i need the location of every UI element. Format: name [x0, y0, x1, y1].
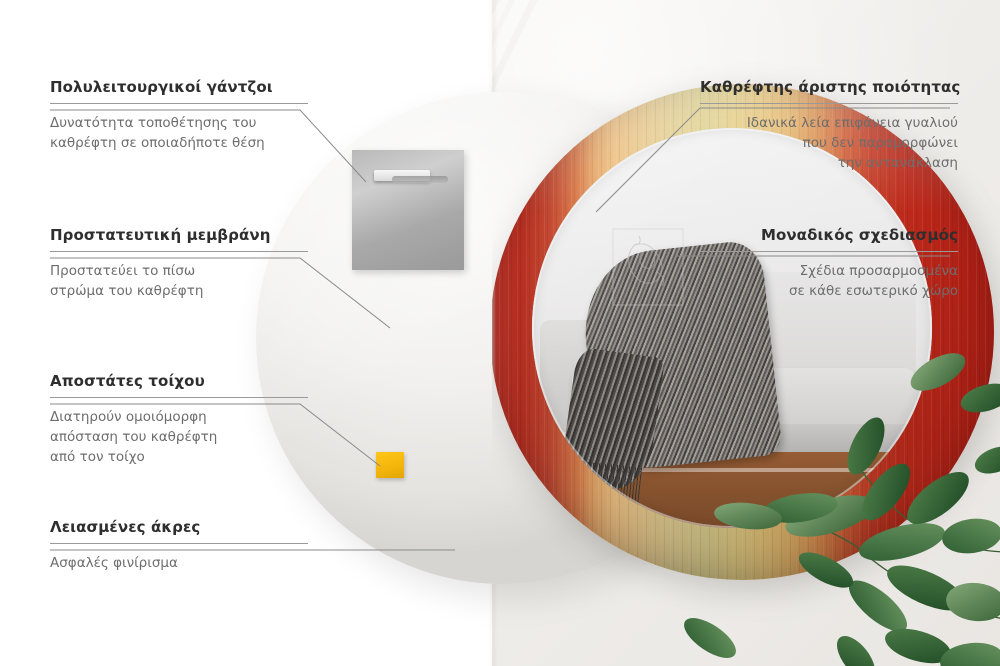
callout-title: Καθρέφτης άριστης ποιότητας: [700, 78, 958, 96]
hanging-bracket: [352, 150, 464, 270]
callout-title: Λειασμένες άκρες: [50, 518, 308, 536]
bracket-slot-shadow: [392, 176, 448, 183]
callout-title: Αποστάτες τοίχου: [50, 372, 308, 390]
infographic-canvas: Πολυλειτουργικοί γάντζοι Δυνατότητα τοπο…: [0, 0, 1000, 666]
callout-title: Μοναδικός σχεδιασμός: [700, 226, 958, 244]
callout-rule: [50, 251, 308, 252]
callout-description: Δυνατότητα τοποθέτησης του καθρέφτη σε ο…: [50, 113, 308, 153]
callout-description: Ασφαλές φινίρισμα: [50, 553, 308, 573]
callout-rule: [50, 397, 308, 398]
callout-wall-spacers: Αποστάτες τοίχου Διατηρούν ομοιόμορφη απ…: [50, 372, 308, 467]
callout-title: Πολυλειτουργικοί γάντζοι: [50, 78, 308, 96]
callout-multifunctional-hooks: Πολυλειτουργικοί γάντζοι Δυνατότητα τοπο…: [50, 78, 308, 153]
callout-rule: [700, 251, 958, 252]
callout-description: Διατηρούν ομοιόμορφη απόσταση του καθρέφ…: [50, 407, 308, 467]
callout-protective-membrane: Προστατευτική μεμβράνη Προστατεύει το πί…: [50, 226, 308, 301]
watermark-sketch-icon: [612, 228, 684, 306]
foliage-decoration: [680, 320, 1000, 666]
callout-smoothed-edges: Λειασμένες άκρες Ασφαλές φινίρισμα: [50, 518, 308, 573]
callout-rule: [50, 543, 308, 544]
callout-rule: [50, 103, 308, 104]
callout-title: Προστατευτική μεμβράνη: [50, 226, 308, 244]
callout-description: Ιδανικά λεία επιφάνεια γυαλιού που δεν π…: [700, 113, 958, 173]
callout-top-quality-mirror: Καθρέφτης άριστης ποιότητας Ιδανικά λεία…: [700, 78, 958, 173]
callout-description: Σχέδια προσαρμοσμένα σε κάθε εσωτερικό χ…: [700, 261, 958, 301]
callout-rule: [700, 103, 958, 104]
callout-unique-design: Μοναδικός σχεδιασμός Σχέδια προσαρμοσμέν…: [700, 226, 958, 301]
callout-description: Προστατεύει το πίσω στρώμα του καθρέφτη: [50, 261, 308, 301]
wall-spacer-block: [376, 452, 404, 478]
